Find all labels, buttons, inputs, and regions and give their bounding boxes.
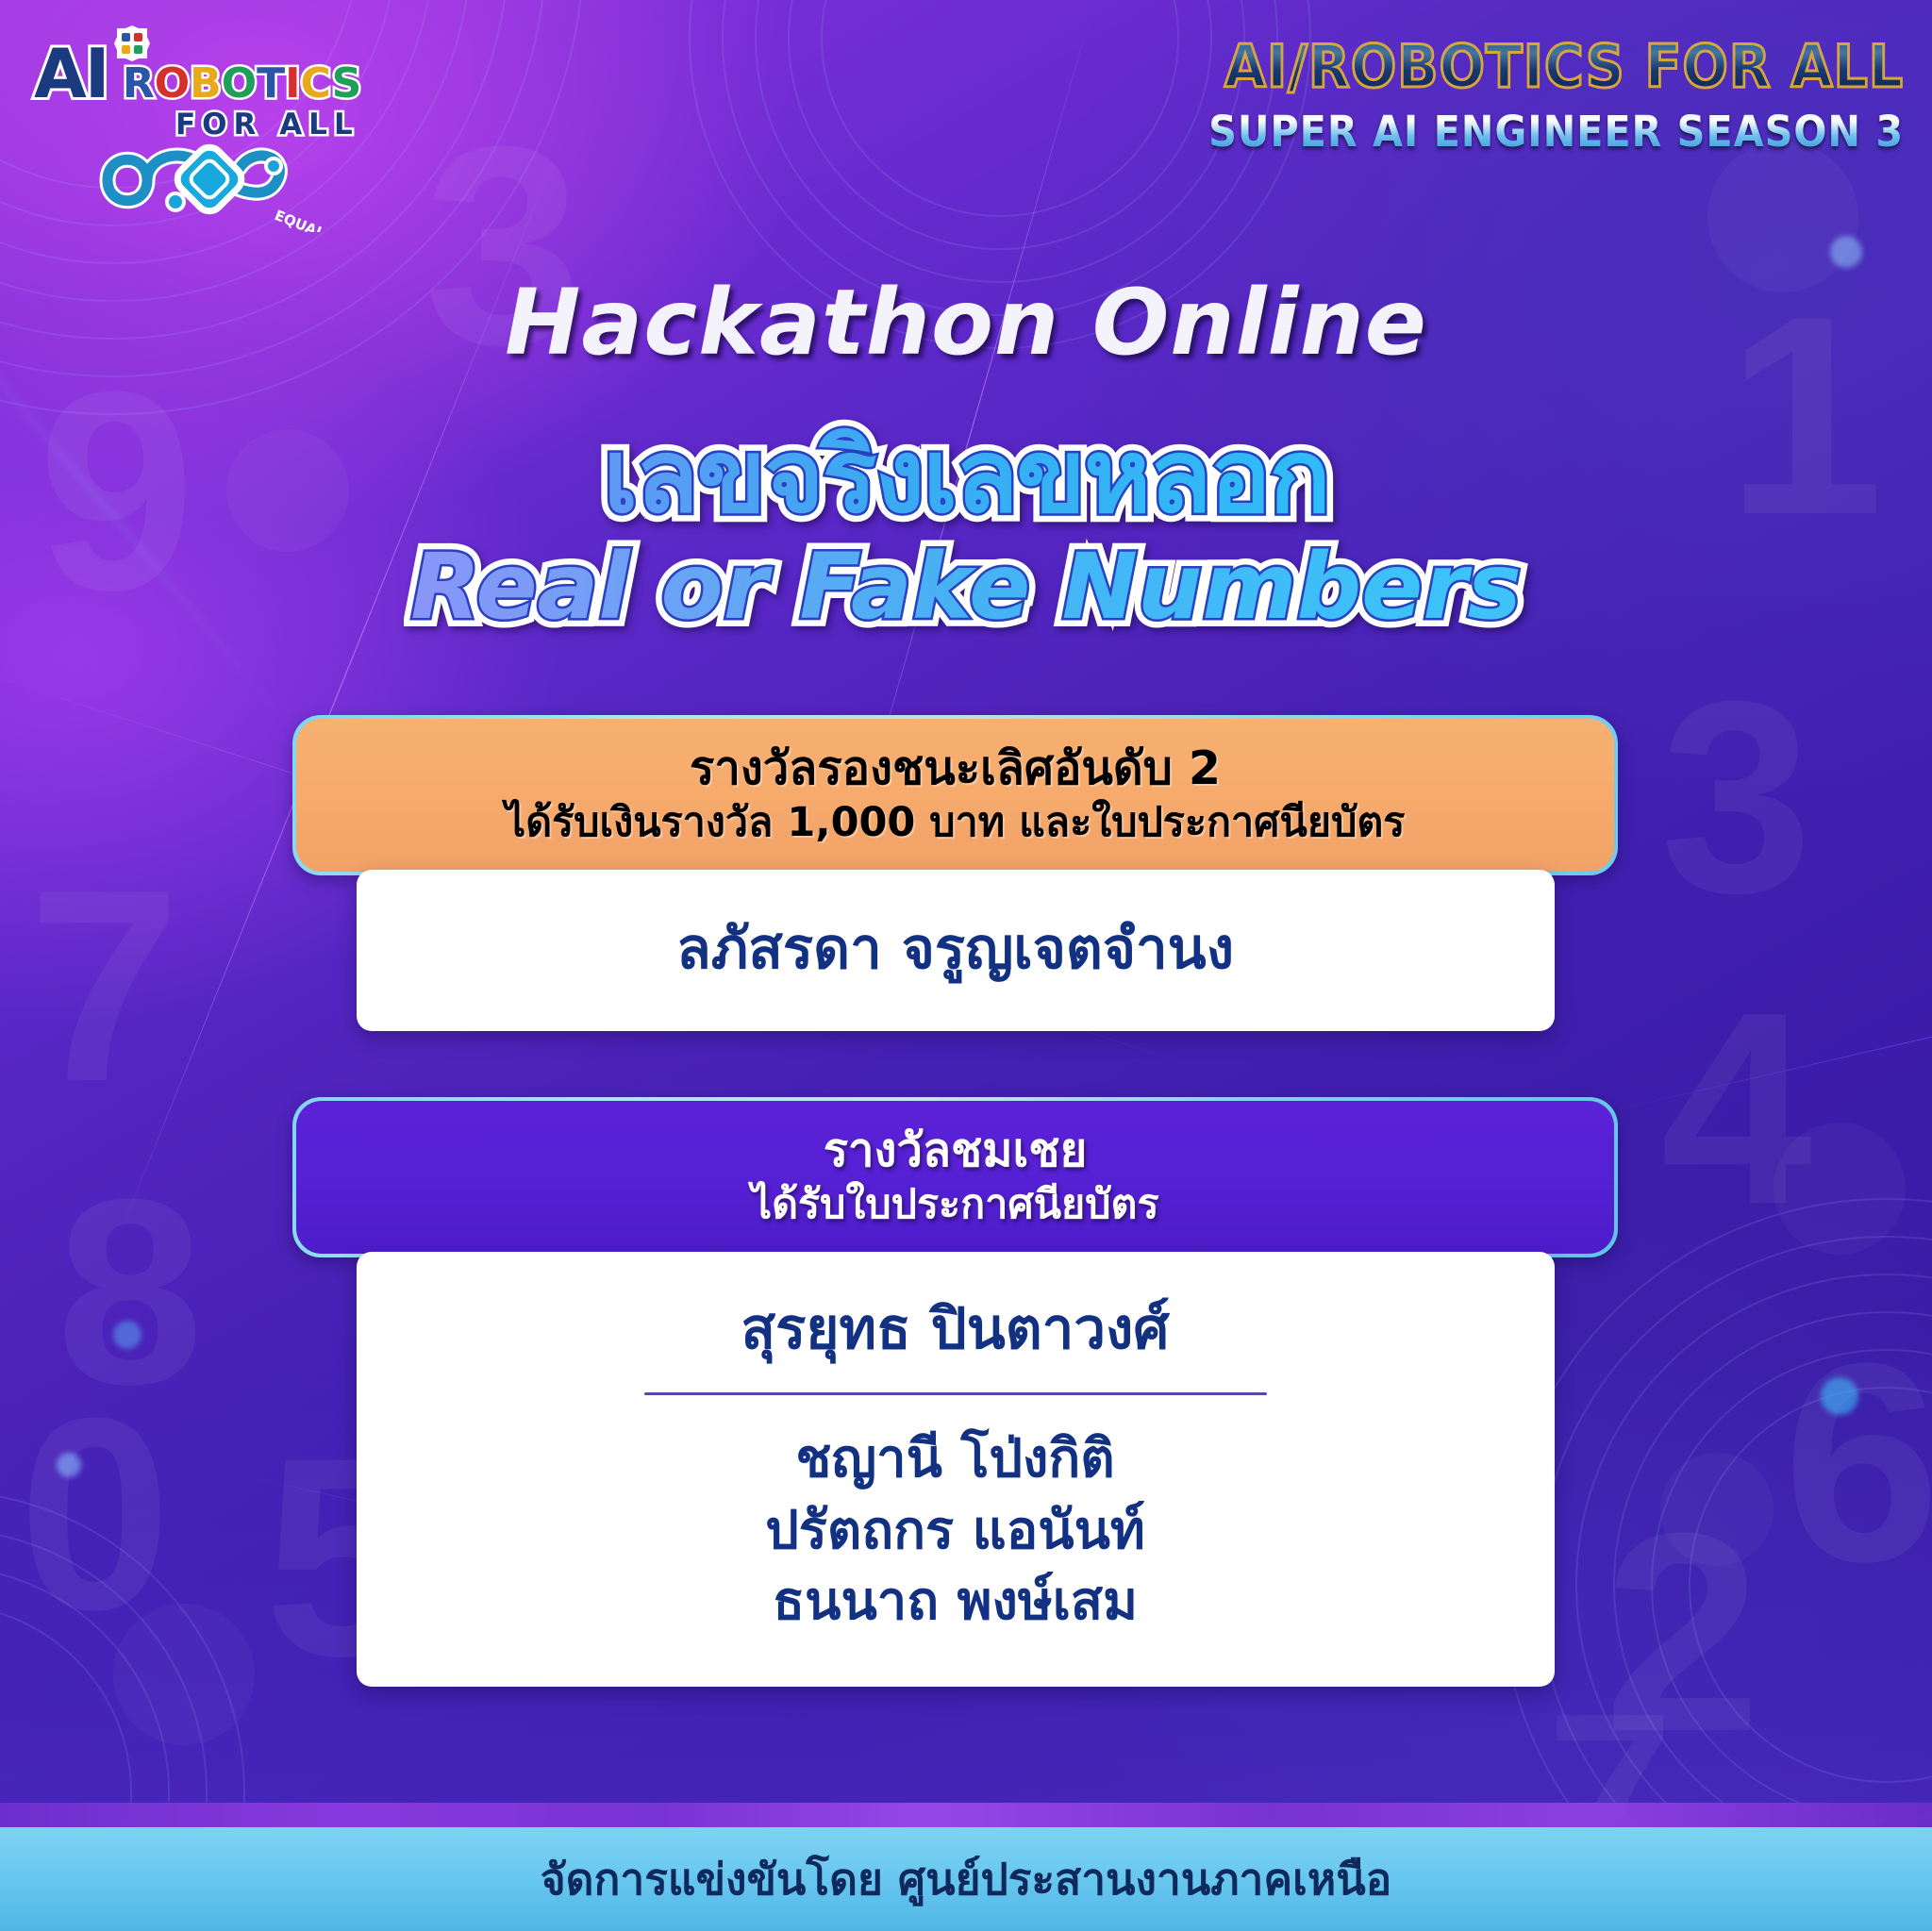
background-glow [1830,236,1862,268]
award-winner-panel: สุรยุทธ ปินตาวงศ์ ชญานี โป่งกิติ ปรัตถกร… [357,1252,1555,1687]
background-digit: 7 [28,849,180,1123]
event-header-line2: SUPER AI ENGINEER SEASON 3 [1208,107,1904,157]
award-banner-purple: รางวัลชมเชย ได้รับใบประกาศนียบัตร [292,1097,1618,1257]
winner-name: ธนนาถ พงษ์เสม [394,1566,1517,1638]
infinity-equality-icon: EQUALITY [89,128,325,232]
page-title-thai: เลขจริงเลขหลอก เลขจริงเลขหลอก เลขจริงเลข… [0,394,1932,557]
footer-stripe [0,1803,1932,1827]
winner-name: ชญานี โป่งกิติ [394,1423,1517,1495]
winner-list-divider [644,1392,1267,1395]
award-card-runner-up-2: รางวัลรองชนะเลิศอันดับ 2 ได้รับเงินรางวั… [292,715,1618,1031]
event-header-line1: AI/ROBOTICS FOR ALL [1208,32,1904,101]
award-banner-purple-inner: รางวัลชมเชย ได้รับใบประกาศนียบัตร [296,1101,1614,1254]
award-banner-subtitle: ได้รับใบประกาศนียบัตร [325,1180,1586,1229]
logo-ai-text: AI [34,34,108,113]
award-winner-panel: ลภัสรดา จรูญเจตจำนง [357,870,1555,1031]
page-title-thai-gloss: เลขจริงเลขหลอก [0,394,1932,557]
winner-name: สุรยุทธ ปินตาวงศ์ [394,1291,1517,1368]
event-header: AI/ROBOTICS FOR ALL SUPER AI ENGINEER SE… [1148,32,1904,157]
background-digit: 8 [57,1160,204,1424]
footer-organizer-text: จัดการแข่งขันโดย ศูนย์ประสานงานภาคเหนือ [541,1845,1392,1914]
background-glow [57,1453,81,1477]
background-glow [1821,1377,1858,1415]
page-title-english: Real or Fake Numbers Real or Fake Number… [0,534,1932,640]
winner-name: ปรัตถกร แอนันท์ [394,1495,1517,1567]
footer-bar: จัดการแข่งขันโดย ศูนย์ประสานงานภาคเหนือ [0,1827,1932,1931]
award-banner-orange-inner: รางวัลรองชนะเลิศอันดับ 2 ได้รับเงินรางวั… [296,719,1614,872]
page-title-english-gloss: Real or Fake Numbers [0,534,1932,640]
page-eyebrow-title: Hackathon Online [0,270,1932,375]
winner-name: ลภัสรดา จรูญเจตจำนง [394,911,1517,988]
logo-robotics-text: ROBOTICS [108,59,362,108]
brand-logo: AI ROBOTICS FOR ALL EQUALITY [34,26,355,234]
background-digit: 3 [1660,660,1812,934]
award-banner-subtitle: ได้รับเงินรางวัล 1,000 บาท และใบประกาศนี… [325,798,1586,847]
award-card-honorable-mention: รางวัลชมเชย ได้รับใบประกาศนียบัตร สุรยุท… [292,1097,1618,1687]
background-glow [113,1321,142,1349]
logo-wordmark: AI ROBOTICS FOR ALL [34,34,361,141]
award-banner-orange: รางวัลรองชนะเลิศอันดับ 2 ได้รับเงินรางวั… [292,715,1618,875]
award-banner-title: รางวัลรองชนะเลิศอันดับ 2 [325,741,1586,796]
svg-text:EQUALITY: EQUALITY [273,207,325,232]
award-banner-title: รางวัลชมเชย [325,1124,1586,1178]
